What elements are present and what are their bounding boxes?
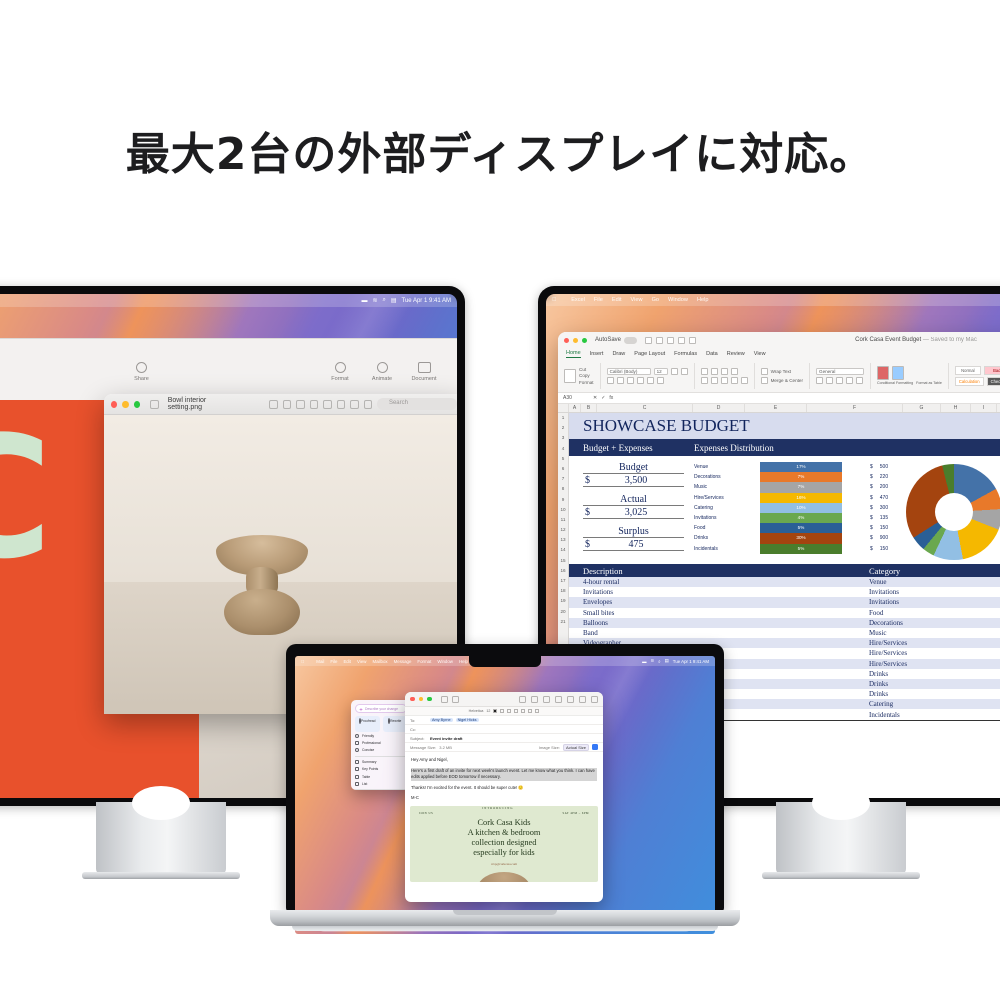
- zoom-icon[interactable]: [582, 338, 587, 343]
- wifi-icon[interactable]: ≋: [372, 297, 377, 304]
- left-menubar[interactable]:  ▬ ≋ ⌕ ▤ Tue Apr 1 9:41 AM: [0, 294, 457, 307]
- expense-table-header: Description Category: [569, 564, 1000, 577]
- close-icon[interactable]: [410, 697, 415, 702]
- excel-titlebar[interactable]: AutoSave Cork Casa Event Budget — Saved …: [558, 332, 1000, 348]
- cell-category: Hire/Services: [869, 660, 907, 668]
- menu-view[interactable]: View: [631, 297, 643, 303]
- text-color-icon[interactable]: [493, 709, 497, 713]
- excel-ribbon-tabs[interactable]: Home Insert Draw Page Layout Formulas Da…: [558, 348, 1000, 359]
- menu-excel[interactable]: Excel: [571, 297, 585, 303]
- share-icon: [136, 362, 147, 373]
- send-icon[interactable]: [441, 696, 448, 703]
- photo-icon[interactable]: [543, 696, 550, 703]
- excel-doc-title: Cork Casa Event Budget: [855, 337, 921, 343]
- chart-category: Music: [694, 482, 760, 492]
- align-center-icon[interactable]: [711, 377, 718, 384]
- budget-label: Budget: [583, 462, 684, 474]
- cell-description: Small bites: [569, 609, 869, 617]
- table-row[interactable]: BalloonsDecorations: [569, 618, 1000, 628]
- row-header[interactable]: 12: [558, 525, 568, 535]
- info-icon[interactable]: [350, 400, 358, 409]
- cell-category: Invitations: [869, 598, 899, 606]
- right-menubar[interactable]:  Excel File Edit View Go Window Help: [546, 294, 1000, 306]
- currency-icon[interactable]: [816, 377, 823, 384]
- budget-value: 3,500: [590, 475, 682, 486]
- zoom-icon[interactable]: [134, 401, 140, 408]
- cell-category: Drinks: [869, 680, 888, 688]
- expenses-distribution-chart: VenueDecorationsMusicHire/ServicesCateri…: [694, 462, 1000, 560]
- bullets-icon: [355, 767, 359, 771]
- underline-icon[interactable]: [514, 709, 518, 713]
- col-G[interactable]: G: [903, 404, 941, 412]
- row-header[interactable]: 20: [558, 607, 568, 617]
- search-icon[interactable]: [519, 696, 526, 703]
- proofread-button[interactable]: Proofread: [355, 716, 380, 732]
- bold-icon[interactable]: [500, 709, 504, 713]
- cell-category: Decorations: [869, 619, 903, 627]
- underline-icon[interactable]: [627, 377, 634, 384]
- control-center-icon[interactable]: ▤: [665, 658, 669, 664]
- cell-category: Drinks: [869, 690, 888, 698]
- format-list[interactable]: List: [355, 780, 407, 787]
- mail-format-bar[interactable]: Helvetica 12: [405, 707, 603, 716]
- macbook-screen:  Mail File Edit View Mailbox Message Fo…: [295, 656, 715, 934]
- format-painter-button[interactable]: Format: [579, 380, 594, 385]
- chart-category: Hire/Services: [694, 493, 760, 503]
- menu-help[interactable]: Help: [459, 659, 468, 664]
- menu-edit[interactable]: Edit: [612, 297, 622, 303]
- chart-amount: $135: [870, 513, 906, 523]
- indent-decrease-icon[interactable]: [731, 377, 738, 384]
- keynote-animate-button[interactable]: Animate: [361, 362, 403, 382]
- align-bottom-icon[interactable]: [721, 368, 728, 375]
- menu-window[interactable]: Window: [668, 297, 688, 303]
- menu-message[interactable]: Message: [394, 659, 412, 664]
- bold-icon[interactable]: [607, 377, 614, 384]
- right-display-stand-foot: [762, 872, 920, 879]
- macbook-menubar-clock[interactable]: Tue Apr 1 9:41 AM: [673, 659, 709, 664]
- row-header[interactable]: 11: [558, 515, 568, 525]
- document-icon: [418, 362, 431, 373]
- format-key-points[interactable]: Key Points: [355, 766, 407, 773]
- format-font-name[interactable]: Helvetica: [469, 709, 484, 713]
- font-name-select[interactable]: Calibri (Body): [607, 368, 651, 375]
- cell-description: Envelopes: [569, 598, 869, 606]
- left-menubar-clock[interactable]: Tue Apr 1 9:41 AM: [402, 298, 451, 304]
- row-header[interactable]: 15: [558, 556, 568, 566]
- tone-professional[interactable]: Professional: [355, 739, 407, 746]
- tone-friendly[interactable]: Friendly: [355, 732, 407, 739]
- tone-concise[interactable]: Concise: [355, 747, 407, 754]
- table-row[interactable]: Small bitesFood: [569, 608, 1000, 618]
- image-size-label: Image Size:: [539, 745, 560, 750]
- actual-label: Actual: [583, 494, 684, 506]
- align-right-icon[interactable]: [721, 377, 728, 384]
- cell-category: Catering: [869, 700, 893, 708]
- wrap-text-button[interactable]: Wrap Text: [771, 369, 792, 374]
- align-middle-icon[interactable]: [711, 368, 718, 375]
- invite-bowl-graphic: [478, 872, 530, 882]
- confirm-entry-icon[interactable]: ✓: [601, 395, 605, 401]
- cancel-entry-icon[interactable]: ✕: [593, 395, 597, 401]
- row-header[interactable]: 2: [558, 423, 568, 433]
- invite-heading-4: especially for kids: [410, 848, 598, 858]
- excel-ribbon[interactable]: Cut Copy Format Calibri (Body) 12: [558, 359, 1000, 393]
- style-check-cell[interactable]: Check Cell: [987, 377, 1000, 386]
- preview-titlebar[interactable]: Bowl interior setting.png Search: [104, 394, 457, 415]
- number-format-select[interactable]: General: [816, 368, 864, 375]
- tab-page-layout[interactable]: Page Layout: [634, 351, 665, 357]
- keynote-titlebar[interactable]: Deck Edited: [0, 339, 457, 359]
- col-description-header: Description: [569, 566, 869, 576]
- col-category-header: Category: [869, 566, 900, 576]
- recipient-token[interactable]: Nigel Hicks: [456, 718, 479, 722]
- align-left-icon[interactable]: [701, 377, 708, 384]
- format-font-size[interactable]: 12: [486, 709, 490, 713]
- orientation-icon[interactable]: [731, 368, 738, 375]
- menu-mailbox[interactable]: Mailbox: [372, 659, 387, 664]
- tab-insert[interactable]: Insert: [590, 351, 604, 357]
- markup-icon[interactable]: [531, 696, 538, 703]
- name-box[interactable]: A30: [563, 395, 589, 401]
- cell-styles-gallery[interactable]: Normal Bad Good Neutral Calculation Chec…: [955, 366, 1000, 386]
- zoom-icon[interactable]: [427, 697, 432, 702]
- emoji-icon[interactable]: [579, 696, 586, 703]
- list-icon[interactable]: [528, 709, 532, 713]
- col-B[interactable]: B: [581, 404, 597, 412]
- style-normal[interactable]: Normal: [955, 366, 981, 375]
- excel-saved-state: Saved to my Mac: [931, 337, 977, 343]
- product-marketing-image: 最大2台の外部ディスプレイに対応。  ▬ ≋ ⌕ ▤ Tue Apr 1 9:…: [0, 0, 1000, 1000]
- toggle-icon[interactable]: [624, 337, 637, 344]
- undo-icon[interactable]: [678, 337, 685, 344]
- paragraph-icon: [355, 760, 359, 764]
- message-size-value: 3.2 MB: [439, 745, 452, 750]
- keynote-format-button[interactable]: Format: [319, 362, 361, 382]
- minimize-icon[interactable]: [122, 401, 128, 408]
- sheet-summary-area: Budget $ 3,500 Actual $ 3,025: [569, 456, 1000, 560]
- excel-column-headers[interactable]: A B C D E F G H I J K: [558, 404, 1000, 413]
- mail-to-field[interactable]: To: Amy Byrne Nigel Hicks: [405, 716, 603, 725]
- align-icon[interactable]: [521, 709, 525, 713]
- decrease-decimal-icon[interactable]: [856, 377, 863, 384]
- row-header[interactable]: 6: [558, 464, 568, 474]
- format-table[interactable]: Table: [355, 773, 407, 780]
- col-F[interactable]: F: [807, 404, 903, 412]
- row-header[interactable]: 1: [558, 413, 568, 423]
- search-icon[interactable]: ⌕: [658, 659, 660, 664]
- actual-value-row: $ 3,025: [583, 507, 684, 519]
- sparkle-icon: [359, 708, 363, 712]
- row-header[interactable]: 16: [558, 566, 568, 576]
- cell-description: Band: [569, 629, 869, 637]
- rotate-icon[interactable]: [269, 400, 277, 409]
- style-calculation[interactable]: Calculation: [955, 377, 984, 386]
- row-header[interactable]: 3: [558, 433, 568, 443]
- ai-badge-icon[interactable]: [592, 744, 598, 750]
- row-header[interactable]: 4: [558, 444, 568, 454]
- cut-button[interactable]: Cut: [579, 367, 594, 372]
- keynote-document-button[interactable]: Document: [403, 362, 445, 382]
- attach-icon[interactable]: [452, 696, 459, 703]
- col-I[interactable]: I: [971, 404, 997, 412]
- tab-draw[interactable]: Draw: [612, 351, 625, 357]
- row-header[interactable]: 5: [558, 454, 568, 464]
- apple-icon[interactable]: : [301, 659, 304, 664]
- cell-category: Hire/Services: [869, 639, 907, 647]
- paste-icon[interactable]: [564, 369, 576, 383]
- mail-compose-window[interactable]: Helvetica 12 To: Amy Byrne Nigel Hicks: [405, 692, 603, 902]
- chart-amount: $900: [870, 533, 906, 543]
- chart-category: Drinks: [694, 533, 760, 543]
- copy-button[interactable]: Copy: [579, 373, 594, 378]
- chart-amount: $200: [870, 482, 906, 492]
- section-expenses-distribution: Expenses Distribution: [694, 443, 774, 453]
- tab-formulas[interactable]: Formulas: [674, 351, 697, 357]
- row-header[interactable]: 13: [558, 535, 568, 545]
- apple-icon[interactable]: : [552, 297, 556, 303]
- increase-decimal-icon[interactable]: [846, 377, 853, 384]
- share-icon[interactable]: [310, 400, 318, 409]
- italic-icon[interactable]: [617, 377, 624, 384]
- cell-category: Incidentals: [869, 711, 900, 719]
- save-icon[interactable]: [656, 337, 663, 344]
- smiley-icon: [355, 734, 359, 738]
- chart-bar: 5%: [760, 523, 842, 533]
- cell-description: Invitations: [569, 588, 869, 596]
- minimize-icon[interactable]: [573, 338, 578, 343]
- indent-icon[interactable]: [535, 709, 539, 713]
- col-H[interactable]: H: [941, 404, 971, 412]
- mail-titlebar[interactable]: [405, 692, 603, 707]
- tab-data[interactable]: Data: [706, 351, 718, 357]
- format-as-table-icon[interactable]: [892, 366, 904, 380]
- chart-bar: 17%: [760, 462, 842, 472]
- chart-bar: 7%: [760, 472, 842, 482]
- merge-center-icon[interactable]: [761, 377, 768, 384]
- writing-tools-input[interactable]: Describe your change: [355, 704, 407, 713]
- row-header[interactable]: 10: [558, 505, 568, 515]
- conditional-formatting-label[interactable]: Conditional Formatting: [877, 381, 913, 385]
- menu-view[interactable]: View: [357, 659, 366, 664]
- mail-subject-field[interactable]: Subject: Event invite draft: [405, 734, 603, 743]
- subject-value: Event invite draft: [430, 736, 462, 741]
- styles-group[interactable]: Conditional Formatting Format as Table: [877, 366, 942, 385]
- zoom-in-icon[interactable]: [296, 400, 304, 409]
- list-icon: [355, 782, 359, 786]
- autosave-toggle[interactable]: AutoSave: [595, 337, 637, 344]
- col-A[interactable]: A: [569, 404, 581, 412]
- excel-formula-bar[interactable]: A30 ✕ ✓ fx: [558, 393, 1000, 404]
- chart-bar: 16%: [760, 493, 842, 503]
- macbook-grip-notch: [453, 910, 557, 915]
- arrows-in-icon: [355, 748, 359, 752]
- row-header[interactable]: 19: [558, 596, 568, 606]
- mail-body[interactable]: Hey Amy and Nigel, Here's a first draft …: [405, 752, 603, 802]
- body-signature: M-C: [411, 795, 597, 802]
- right-display-stand-cutout: [812, 786, 870, 820]
- print-icon[interactable]: [667, 337, 674, 344]
- message-size-label: Message Size:: [410, 745, 436, 750]
- chart-bar: 4%: [760, 513, 842, 523]
- chart-bar: 5%: [760, 544, 842, 554]
- close-icon[interactable]: [564, 338, 569, 343]
- font-size-select[interactable]: 12: [654, 368, 668, 375]
- left-display-stand-foot: [82, 872, 240, 879]
- preview-search-input[interactable]: Search: [377, 398, 457, 410]
- border-icon[interactable]: [637, 377, 644, 384]
- battery-icon[interactable]: ▬: [361, 298, 367, 304]
- col-D[interactable]: D: [693, 404, 745, 412]
- col-E[interactable]: E: [745, 404, 807, 412]
- camera-notch: [469, 656, 541, 667]
- align-top-icon[interactable]: [701, 368, 708, 375]
- chart-amount: $300: [870, 503, 906, 513]
- font-group[interactable]: Calibri (Body) 12: [607, 368, 688, 384]
- redo-icon[interactable]: [689, 337, 696, 344]
- preview-filename: Bowl interior setting.png: [168, 397, 237, 411]
- wrap-merge-group[interactable]: Wrap Text Merge & Center: [761, 368, 803, 384]
- merge-center-button[interactable]: Merge & Center: [771, 378, 803, 383]
- chart-bar: 10%: [760, 503, 842, 513]
- invite-heading-3: collection designed: [410, 838, 598, 848]
- decrease-font-icon[interactable]: [681, 368, 688, 375]
- zoom-out-icon[interactable]: [283, 400, 291, 409]
- row-header[interactable]: 9: [558, 495, 568, 505]
- cell-category: Hire/Services: [869, 649, 907, 657]
- chart-category: Venue: [694, 462, 760, 472]
- chart-category: Incidentals: [694, 544, 760, 554]
- row-header[interactable]: 7: [558, 474, 568, 484]
- menu-go[interactable]: Go: [652, 297, 659, 303]
- close-icon[interactable]: [111, 401, 117, 408]
- row-header[interactable]: 18: [558, 586, 568, 596]
- rewrite-button[interactable]: Rewrite: [383, 716, 408, 732]
- mail-cc-field[interactable]: Cc:: [405, 725, 603, 734]
- chart-amount: $470: [870, 493, 906, 503]
- chart-bar: 30%: [760, 533, 842, 543]
- chart-bar: 7%: [760, 482, 842, 492]
- cell-category: Music: [869, 629, 887, 637]
- row-header[interactable]: 14: [558, 545, 568, 555]
- surplus-label: Surplus: [583, 526, 684, 538]
- col-C[interactable]: C: [597, 404, 693, 412]
- cell-description: 4-hour rental: [569, 578, 869, 586]
- format-summary[interactable]: Summary: [355, 758, 407, 765]
- briefcase-icon: [355, 741, 359, 745]
- recipient-token[interactable]: Amy Byrne: [430, 718, 453, 722]
- cell-description: Balloons: [569, 619, 869, 627]
- text-size-icon[interactable]: [567, 696, 574, 703]
- chart-amount: $150: [870, 523, 906, 533]
- annotate-icon[interactable]: [364, 400, 372, 409]
- menu-help[interactable]: Help: [697, 297, 709, 303]
- invite-heading-2: A kitchen & bedroom: [410, 828, 598, 838]
- clipboard-group[interactable]: Cut Copy Format: [564, 367, 594, 385]
- chart-category: Catering: [694, 503, 760, 513]
- markup-icon[interactable]: [323, 400, 331, 409]
- format-as-table-label[interactable]: Format as Table: [916, 381, 942, 385]
- table-row[interactable]: 4-hour rentalVenue: [569, 577, 1000, 587]
- battery-icon[interactable]: ▬: [642, 659, 646, 664]
- home-icon[interactable]: [645, 337, 652, 344]
- insert-function-icon[interactable]: fx: [609, 395, 613, 401]
- row-header[interactable]: 21: [558, 617, 568, 627]
- increase-font-icon[interactable]: [671, 368, 678, 375]
- chart-percent-bars: 17%7%7%16%10%4%5%30%5%: [760, 462, 842, 560]
- chart-category: Food: [694, 523, 760, 533]
- invite-attachment-card[interactable]: JOIN US INTRODUCING SAT 4PM – 6PM Cork C…: [410, 806, 598, 882]
- writing-tools-panel[interactable]: Describe your change Proofread Rewrite F…: [351, 700, 411, 790]
- body-paragraph-selected: Here's a first draft of an invite for ne…: [411, 768, 597, 781]
- settings-icon[interactable]: [555, 696, 562, 703]
- cell-category: Venue: [869, 578, 887, 586]
- italic-icon[interactable]: [507, 709, 511, 713]
- indent-increase-icon[interactable]: [741, 377, 748, 384]
- tab-home[interactable]: Home: [566, 350, 581, 358]
- animate-icon: [377, 362, 388, 373]
- menu-edit[interactable]: Edit: [343, 659, 351, 664]
- control-center-icon[interactable]: ▤: [391, 297, 397, 304]
- keynote-window: Deck Edited Media Comment Share: [0, 338, 457, 400]
- invite-heading-1: Cork Casa Kids: [410, 818, 598, 828]
- table-row[interactable]: BandMusic: [569, 628, 1000, 638]
- style-bad[interactable]: Bad: [984, 366, 1000, 375]
- mail-size-row: Message Size: 3.2 MB Image Size: Actual …: [405, 743, 603, 752]
- row-header[interactable]: 8: [558, 484, 568, 494]
- corner-select-all[interactable]: [558, 404, 569, 412]
- media-icon[interactable]: [591, 696, 598, 703]
- minimize-icon[interactable]: [419, 697, 424, 702]
- table-row[interactable]: InvitationsInvitations: [569, 587, 1000, 597]
- chart-category: Invitations: [694, 513, 760, 523]
- fill-color-icon[interactable]: [647, 377, 654, 384]
- wrap-text-icon[interactable]: [761, 368, 768, 375]
- chart-category: Decorations: [694, 472, 760, 482]
- table-row[interactable]: EnvelopesInvitations: [569, 597, 1000, 607]
- cell-category: Drinks: [869, 670, 888, 678]
- menu-window[interactable]: Window: [437, 659, 453, 664]
- alignment-group[interactable]: [701, 368, 748, 384]
- invite-time: SAT 4PM – 6PM: [563, 811, 589, 815]
- search-icon[interactable]: ⌕: [382, 297, 385, 304]
- keynote-share-button[interactable]: Share: [121, 362, 163, 382]
- tab-view[interactable]: View: [754, 351, 766, 357]
- image-size-select[interactable]: Actual Size: [563, 744, 589, 751]
- tab-review[interactable]: Review: [727, 351, 745, 357]
- macbook-base-shadow: [292, 926, 718, 931]
- budget-summary-column: Budget $ 3,500 Actual $ 3,025: [569, 462, 694, 560]
- menu-file[interactable]: File: [330, 659, 337, 664]
- row-header[interactable]: 17: [558, 576, 568, 586]
- poster-monogram: CC: [0, 426, 43, 570]
- font-color-icon[interactable]: [657, 377, 664, 384]
- number-group[interactable]: General: [816, 368, 864, 384]
- comma-icon[interactable]: [836, 377, 843, 384]
- crop-icon[interactable]: [337, 400, 345, 409]
- conditional-formatting-icon[interactable]: [877, 366, 889, 380]
- keynote-toolbar[interactable]: Media Comment Share Format: [0, 359, 457, 399]
- percent-icon[interactable]: [826, 377, 833, 384]
- surplus-value-row: $ 475: [583, 539, 684, 551]
- menu-file[interactable]: File: [594, 297, 603, 303]
- sidebar-icon[interactable]: [150, 400, 158, 409]
- menu-mail[interactable]: Mail: [316, 659, 324, 664]
- sheet-section-headers: Budget + Expenses Expenses Distribution: [569, 439, 1000, 456]
- wifi-icon[interactable]: ≋: [650, 658, 654, 664]
- chart-amount: $150: [870, 544, 906, 554]
- menu-format[interactable]: Format: [417, 659, 431, 664]
